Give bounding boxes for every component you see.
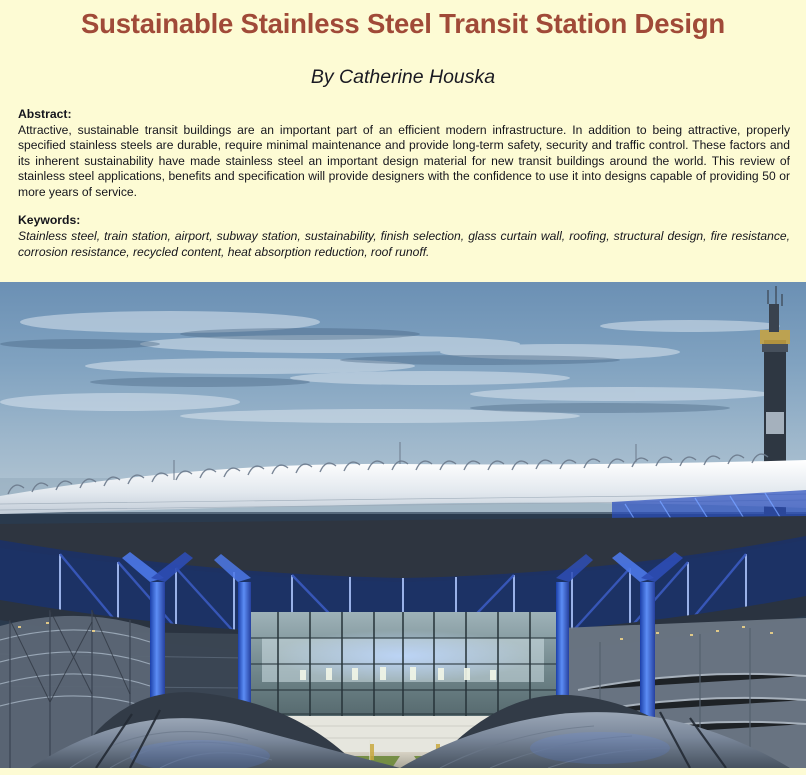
keywords-section: Keywords: Stainless steel, train station… bbox=[18, 213, 790, 260]
abstract-body: Attractive, sustainable transit building… bbox=[18, 123, 790, 201]
abstract-section: Abstract: Attractive, sustainable transi… bbox=[18, 107, 790, 200]
document-page: Sustainable Stainless Steel Transit Stat… bbox=[0, 0, 806, 775]
page-title: Sustainable Stainless Steel Transit Stat… bbox=[0, 7, 806, 41]
article-text-block: Abstract: Attractive, sustainable transi… bbox=[18, 107, 790, 260]
keywords-label: Keywords: bbox=[18, 213, 790, 229]
station-photo-illustration bbox=[0, 282, 806, 768]
author-byline: By Catherine Houska bbox=[0, 64, 806, 90]
transit-station-photograph bbox=[0, 282, 806, 768]
keywords-body: Stainless steel, train station, airport,… bbox=[18, 229, 790, 260]
abstract-label: Abstract: bbox=[18, 107, 790, 123]
